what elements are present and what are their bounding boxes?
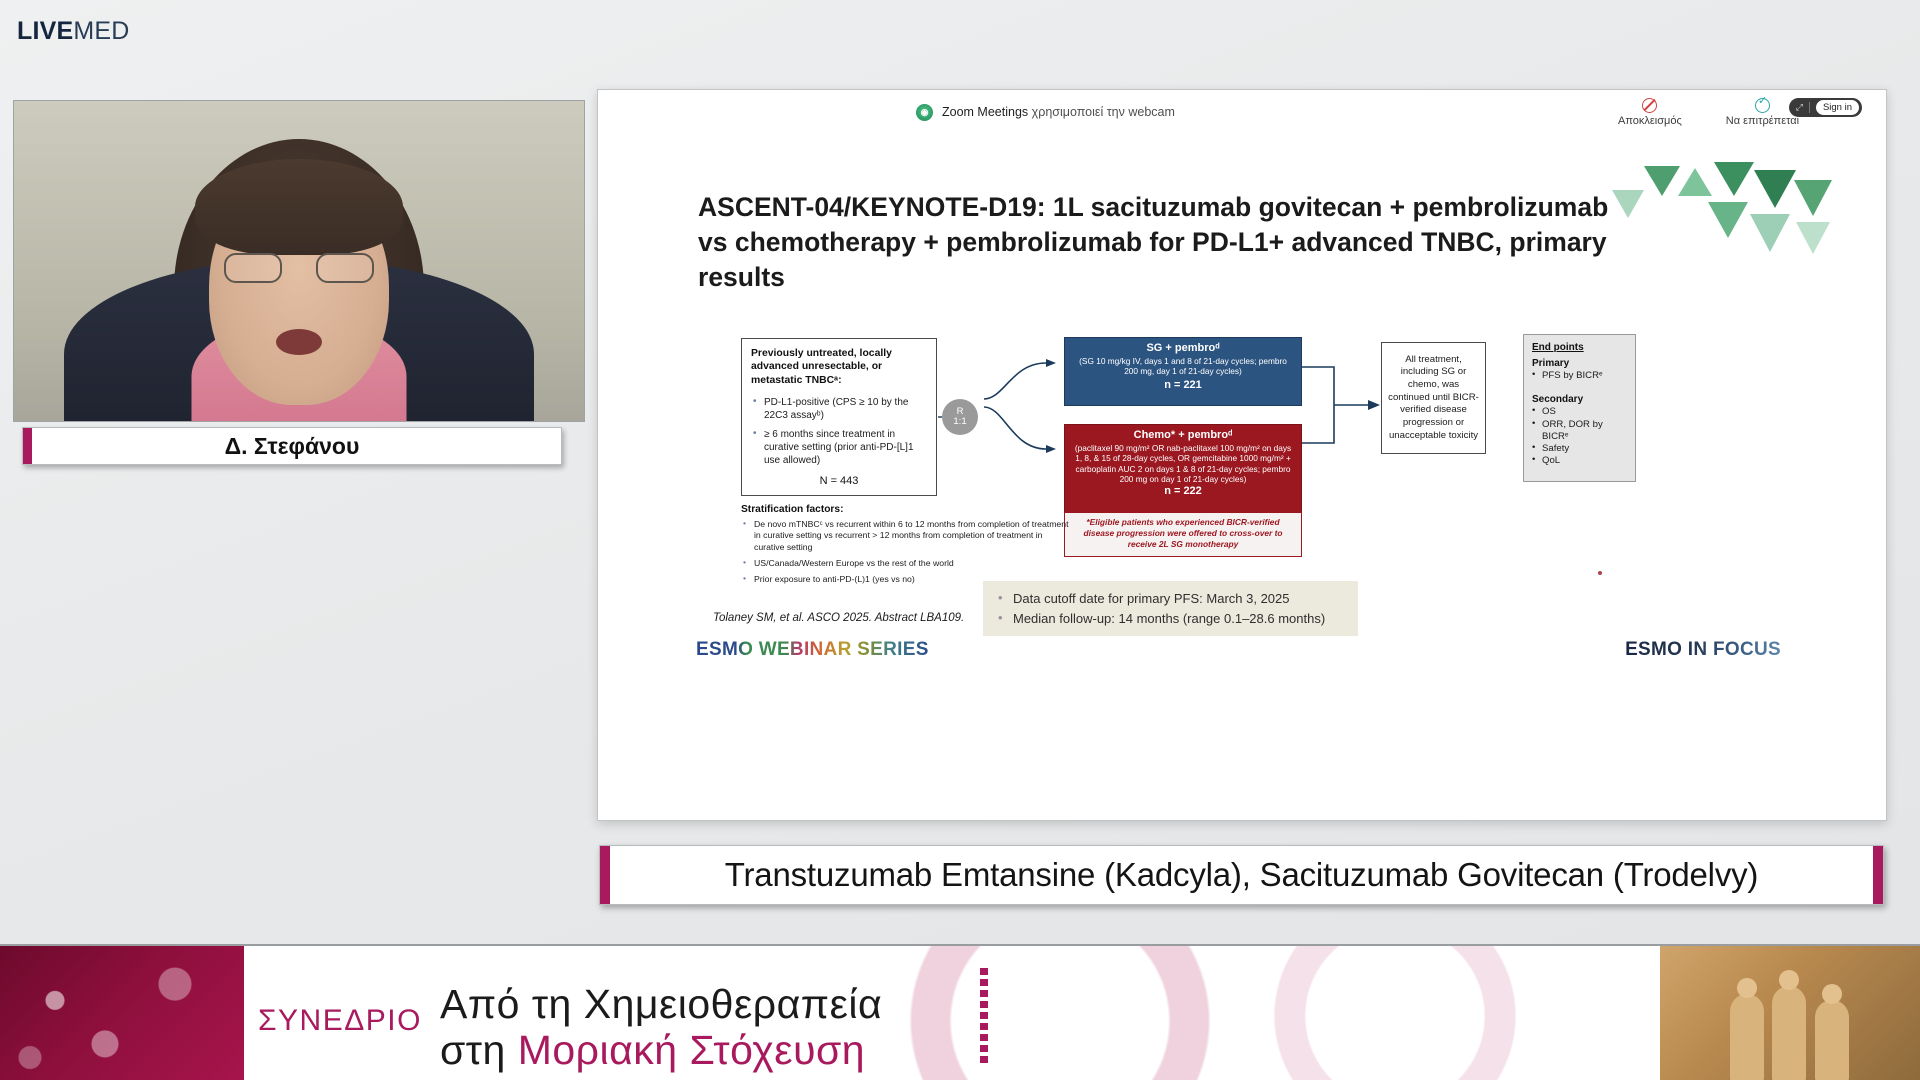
- data-cutoff-box: Data cutoff date for primary PFS: March …: [983, 581, 1358, 636]
- divider: [1809, 102, 1810, 113]
- stratification-bullets: De novo mTNBCᶜ vs recurrent within 6 to …: [741, 519, 1071, 586]
- statue-figure: [1772, 986, 1806, 1080]
- speaker-webcam-feed: [13, 100, 585, 422]
- ad-right-graphic: [1660, 946, 1920, 1080]
- logo-med: MED: [73, 17, 129, 45]
- block-label: Αποκλεισμός: [1618, 115, 1682, 127]
- permission-message-group: ◉ Zoom Meetings χρησιμοποιεί την webcam: [916, 104, 1175, 121]
- control-arm-n: n = 222: [1071, 485, 1295, 497]
- speaker-name: Δ. Στεφάνου: [225, 433, 360, 460]
- session-title: Transtuzumab Emtansine (Kadcyla), Sacitu…: [725, 856, 1758, 894]
- allow-permission-button[interactable]: Να επιτρέπεται: [1726, 98, 1799, 127]
- list-item: De novo mTNBCᶜ vs recurrent within 6 to …: [741, 519, 1071, 553]
- stratification-section: Stratification factors: De novo mTNBCᶜ v…: [741, 504, 1071, 591]
- block-icon: [1642, 98, 1657, 113]
- esmo-webinar-series-logo: ESMO WEBINAR SERIES: [696, 639, 929, 661]
- signin-button[interactable]: Sign in: [1816, 100, 1859, 115]
- experimental-arm-detail: (SG 10 mg/kg IV, days 1 and 8 of 21-day …: [1073, 356, 1293, 377]
- control-arm-box: Chemo* + pembroᵈ (paclitaxel 90 mg/m² OR…: [1064, 424, 1302, 513]
- slide-canvas: ASCENT-04/KEYNOTE-D19: 1L sacituzumab go…: [598, 134, 1886, 820]
- continuation-connector: [1300, 339, 1386, 519]
- secondary-endpoints-list: OS ORR, DOR by BICRᵉ Safety QoL: [1532, 406, 1627, 467]
- ad-line-2-prefix: στη: [440, 1027, 518, 1073]
- glasses-icon: [224, 253, 374, 283]
- ad-left-graphic: [0, 946, 250, 1080]
- speaker-fringe: [195, 159, 403, 255]
- list-item: OS: [1532, 406, 1627, 418]
- list-item: PFS by BICRᵉ: [1532, 370, 1627, 382]
- continuation-text: All treatment, including SG or chemo, wa…: [1387, 354, 1480, 443]
- ad-line-2-highlight: Μοριακή Στόχευση: [518, 1027, 865, 1073]
- esmo-in-focus-logo: ESMO IN FOCUS: [1625, 639, 1781, 661]
- speaker-mouth: [276, 329, 322, 355]
- expand-icon[interactable]: ⤢: [1796, 102, 1803, 113]
- cursor-dot: [1598, 571, 1602, 575]
- stratification-heading: Stratification factors:: [741, 504, 1071, 515]
- list-item: QoL: [1532, 455, 1627, 467]
- allow-label: Να επιτρέπεται: [1726, 115, 1799, 127]
- logo-live: LIVE: [17, 17, 73, 45]
- permission-action-text: χρησιμοποιεί την webcam: [1032, 105, 1175, 119]
- eligibility-bullets: PD-L1-positive (CPS ≥ 10 by the 22C3 ass…: [751, 396, 927, 467]
- list-item: PD-L1-positive (CPS ≥ 10 by the 22C3 ass…: [751, 396, 927, 422]
- statue-figure: [1815, 1000, 1849, 1080]
- permission-actions: Αποκλεισμός Να επιτρέπεται: [1618, 98, 1799, 127]
- eligibility-box: Previously untreated, locally advanced u…: [741, 338, 937, 496]
- ad-kicker: ΣΥΝΕΔΡΙΟ: [258, 1004, 422, 1038]
- experimental-arm-n: n = 221: [1073, 379, 1293, 391]
- speaker-video-panel: [13, 100, 585, 422]
- list-item: ORR, DOR by BICRᵉ: [1532, 419, 1627, 444]
- signin-control[interactable]: ⤢ Sign in: [1789, 98, 1862, 117]
- check-icon: [1755, 98, 1770, 113]
- control-arm-detail: (paclitaxel 90 mg/m² OR nab-paclitaxel 1…: [1071, 443, 1295, 484]
- endpoints-box: End points Primary PFS by BICRᵉ Secondar…: [1523, 334, 1636, 482]
- secondary-endpoints-label: Secondary: [1532, 394, 1627, 405]
- statue-figure: [1730, 994, 1764, 1080]
- permission-message: Zoom Meetings χρησιμοποιεί την webcam: [942, 105, 1175, 119]
- ad-line-1: Από τη Χημειοθεραπεία: [440, 981, 882, 1028]
- eligibility-heading: Previously untreated, locally advanced u…: [751, 347, 927, 387]
- endpoints-heading: End points: [1532, 342, 1627, 353]
- speaker-nameplate: Δ. Στεφάνου: [22, 427, 562, 465]
- ad-swirl-graphic-2: [1230, 944, 1560, 1080]
- webcam-permission-bar: ◉ Zoom Meetings χρησιμοποιεί την webcam …: [598, 90, 1886, 134]
- randomization-arrows: [928, 349, 1078, 489]
- block-permission-button[interactable]: Αποκλεισμός: [1618, 98, 1682, 127]
- list-item: Data cutoff date for primary PFS: March …: [995, 589, 1346, 609]
- control-arm-title: Chemo* + pembroᵈ: [1071, 429, 1295, 441]
- permission-app-name: Zoom Meetings: [942, 105, 1028, 119]
- slide-title: ASCENT-04/KEYNOTE-D19: 1L sacituzumab go…: [698, 190, 1633, 296]
- bottom-ad-banner[interactable]: ΣΥΝΕΔΡΙΟ Από τη Χημειοθεραπεία στη Μορια…: [0, 944, 1920, 1080]
- eligibility-n: N = 443: [751, 475, 927, 487]
- experimental-arm-box: SG + pembroᵈ (SG 10 mg/kg IV, days 1 and…: [1064, 337, 1302, 406]
- ad-line-2: στη Μοριακή Στόχευση: [440, 1027, 865, 1074]
- list-item: US/Canada/Western Europe vs the rest of …: [741, 558, 1071, 569]
- crossover-note-box: *Eligible patients who experienced BICR-…: [1064, 512, 1302, 557]
- slide-citation: Tolaney SM, et al. ASCO 2025. Abstract L…: [713, 612, 964, 624]
- continuation-box: All treatment, including SG or chemo, wa…: [1381, 342, 1486, 454]
- primary-endpoints-list: PFS by BICRᵉ: [1532, 370, 1627, 382]
- livemed-logo: LIVEMED: [17, 17, 130, 46]
- app-root: LIVEMED Δ. Στεφάνου ◉ Zoom Meetings χρησ…: [0, 0, 1920, 1080]
- spacer: [1532, 382, 1627, 391]
- decorative-triangles: [1604, 156, 1834, 274]
- zoom-app-icon: ◉: [916, 104, 933, 121]
- experimental-arm-title: SG + pembroᵈ: [1073, 342, 1293, 354]
- list-item: Safety: [1532, 443, 1627, 455]
- list-item: Median follow-up: 14 months (range 0.1–2…: [995, 609, 1346, 629]
- presentation-window: ◉ Zoom Meetings χρησιμοποιεί την webcam …: [597, 89, 1887, 821]
- ad-tick-marks: [980, 968, 988, 1064]
- primary-endpoints-label: Primary: [1532, 358, 1627, 369]
- list-item: ≥ 6 months since treatment in curative s…: [751, 428, 927, 467]
- session-title-banner: Transtuzumab Emtansine (Kadcyla), Sacitu…: [599, 845, 1884, 905]
